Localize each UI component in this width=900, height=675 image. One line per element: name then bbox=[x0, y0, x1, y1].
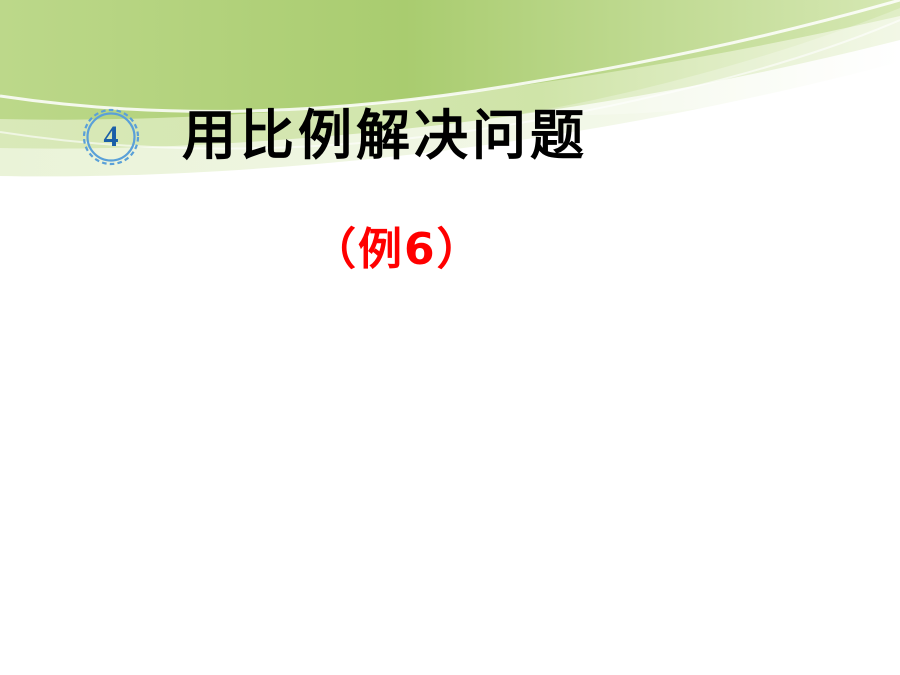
page-subtitle: （例6） bbox=[312, 228, 483, 272]
decorative-banner bbox=[0, 0, 900, 200]
banner-swoosh-graphic bbox=[0, 0, 900, 200]
chapter-number: 4 bbox=[78, 104, 144, 170]
chapter-badge: 4 bbox=[78, 104, 144, 170]
page-title: 用比例解决问题 bbox=[182, 109, 588, 163]
slide-canvas: 4 用比例解决问题 （例6） bbox=[0, 0, 900, 675]
